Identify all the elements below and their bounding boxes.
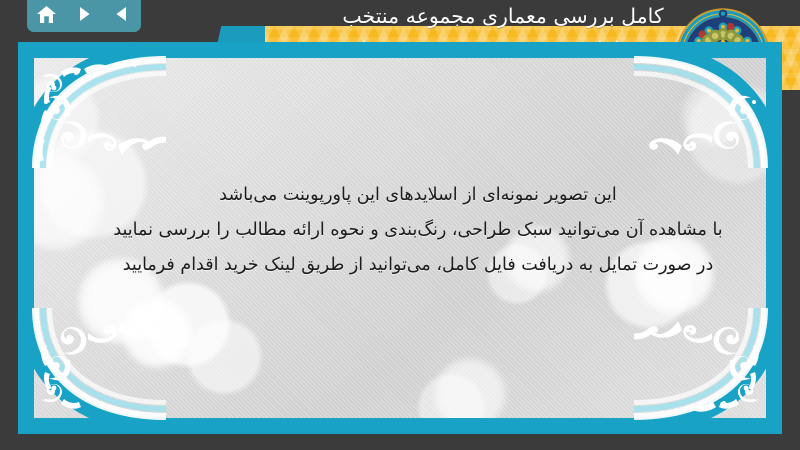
body-line-2: با مشاهده آن می‌توانید سبک طراحی، رنگ‌بن… (58, 213, 778, 248)
next-button[interactable] (71, 2, 97, 26)
slide-navigation-bar[interactable] (27, 0, 141, 32)
home-button[interactable] (33, 2, 59, 26)
bokeh-circle (122, 298, 192, 368)
slide-body-text: این تصویر نمونه‌ای از اسلایدهای این پاور… (58, 178, 778, 283)
slide-viewer: کامل بررسی معماری مجموعه منتخب فضاهای تف… (0, 0, 800, 450)
bokeh-circle (434, 358, 506, 418)
body-line-1: این تصویر نمونه‌ای از اسلایدهای این پاور… (58, 178, 778, 213)
previous-button[interactable] (109, 2, 135, 26)
home-icon (36, 5, 57, 24)
bokeh-circle (682, 82, 746, 146)
body-line-3: در صورت تمایل به دریافت فایل کامل، می‌تو… (58, 248, 778, 283)
previous-triangle-icon (113, 5, 131, 23)
slide-frame: این تصویر نمونه‌ای از اسلایدهای این پاور… (18, 42, 782, 434)
next-triangle-icon (75, 5, 93, 23)
